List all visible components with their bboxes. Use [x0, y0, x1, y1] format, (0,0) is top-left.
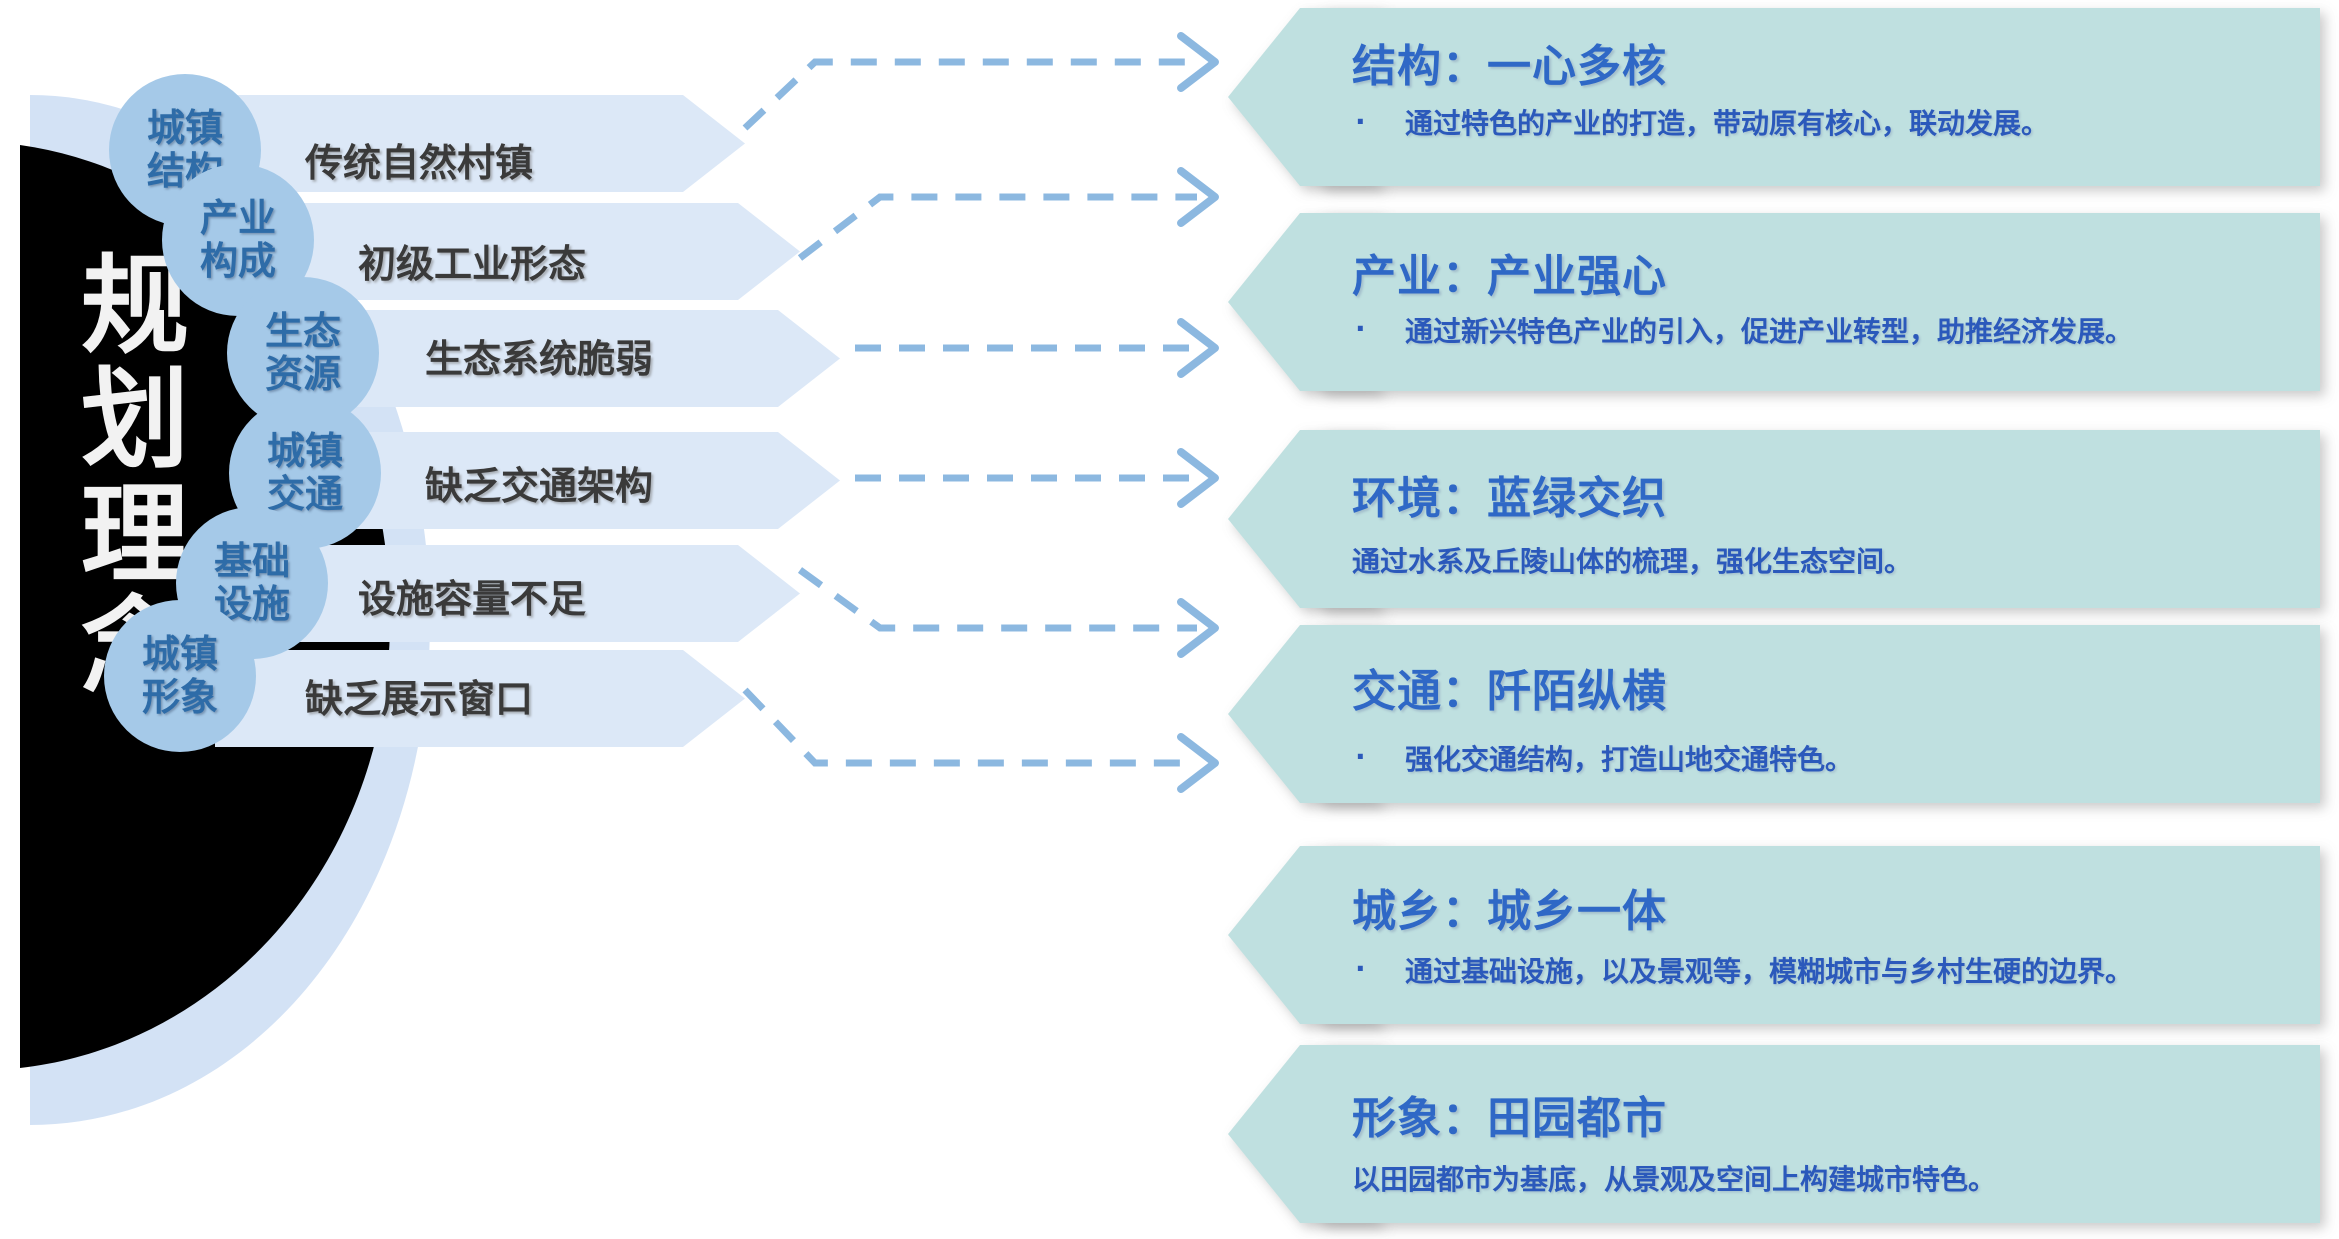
- midbar-label: 初级工业形态: [358, 233, 586, 288]
- panel-title: 产业：产业强心: [1352, 240, 1667, 304]
- midbar-label: 生态系统脆弱: [425, 328, 653, 383]
- text-layer: 规划 理念 城镇 结构产业 构成生态 资源城镇 交通基础 设施城镇 形象 传统自…: [0, 0, 2339, 1239]
- midbar-label: 设施容量不足: [358, 568, 586, 623]
- panel-title: 交通：阡陌纵横: [1352, 655, 1667, 719]
- midbar-label: 传统自然村镇: [305, 132, 533, 187]
- panel-body-text: 通过特色的产业的打造，带动原有核心，联动发展。: [1405, 102, 2049, 142]
- panel-body-text: 通过基础设施，以及景观等，模糊城市与乡村生硬的边界。: [1405, 950, 2133, 990]
- topic-circle[interactable]: 城镇 形象: [104, 600, 256, 752]
- panel-body-text: 以田园都市为基底，从景观及空间上构建城市特色。: [1352, 1158, 1996, 1198]
- panel-body-text: 通过新兴特色产业的引入，促进产业转型，助推经济发展。: [1405, 310, 2133, 350]
- panel-title: 城乡：城乡一体: [1352, 875, 1667, 939]
- panel-body-text: 通过水系及丘陵山体的梳理，强化生态空间。: [1352, 540, 1912, 580]
- panel-bullet-icon: ·: [1355, 740, 1366, 773]
- midbar-label: 缺乏展示窗口: [305, 668, 533, 723]
- panel-bullet-icon: ·: [1355, 105, 1366, 138]
- panel-title: 形象：田园都市: [1352, 1082, 1667, 1146]
- panel-bullet-icon: ·: [1355, 312, 1366, 345]
- panel-body-text: 强化交通结构，打造山地交通特色。: [1405, 738, 1853, 778]
- panel-title: 结构：一心多核: [1352, 30, 1667, 94]
- panel-bullet-icon: ·: [1355, 952, 1366, 985]
- diagram-canvas: 规划 理念 城镇 结构产业 构成生态 资源城镇 交通基础 设施城镇 形象 传统自…: [0, 0, 2339, 1239]
- midbar-label: 缺乏交通架构: [425, 455, 653, 510]
- panel-title: 环境：蓝绿交织: [1352, 462, 1667, 526]
